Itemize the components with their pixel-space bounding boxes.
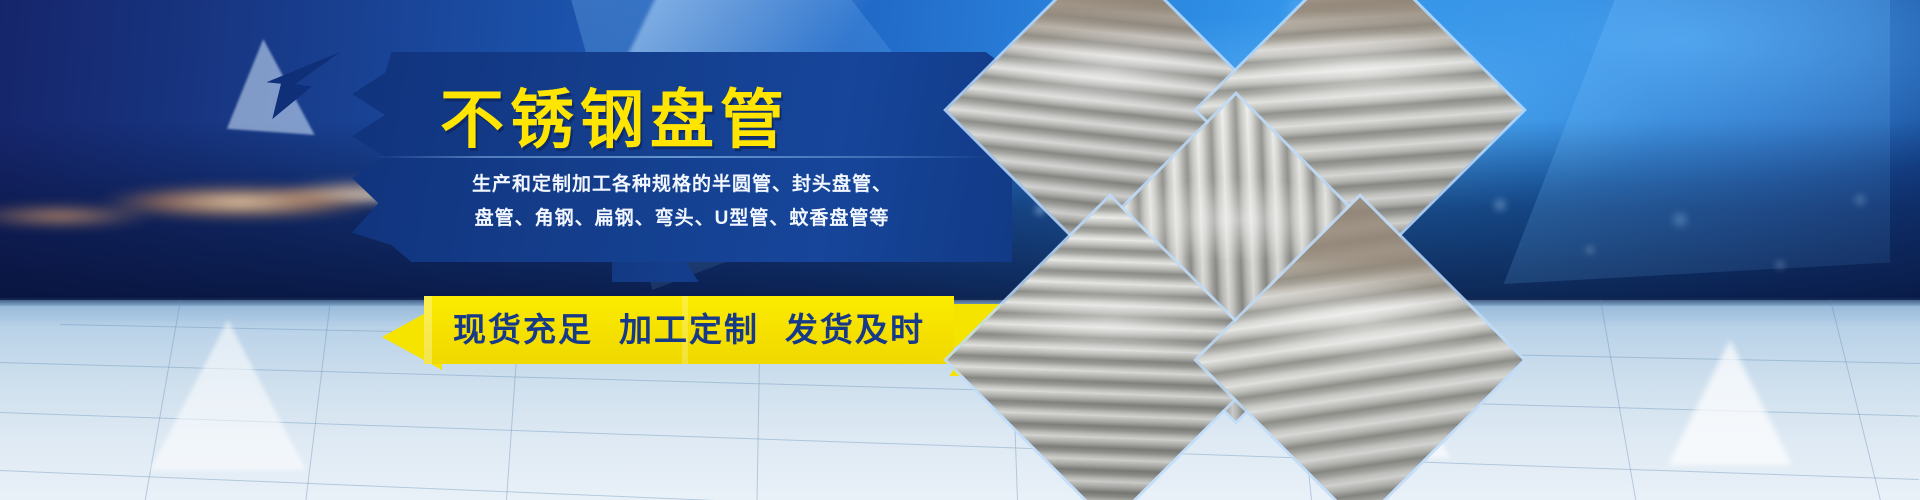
subtitle-line-2: 盘管、角钢、扁钢、弯头、U型管、蚊香盘管等 (372, 202, 992, 236)
product-hero-banner: 不锈钢盘管 生产和定制加工各种规格的半圆管、封头盘管、 盘管、角钢、扁钢、弯头、… (0, 0, 1920, 500)
ribbon-text-group: 现货充足加工定制发货及时 (424, 296, 954, 364)
product-photo-collage (1020, 0, 1520, 440)
ribbon-feature-3: 发货及时 (785, 311, 925, 348)
subtitle-line-1: 生产和定制加工各种规格的半圆管、封头盘管、 (372, 168, 992, 202)
features-ribbon: 现货充足加工定制发货及时 (382, 296, 1010, 378)
page-title: 不锈钢盘管 (440, 88, 1000, 152)
panel-divider (372, 156, 992, 158)
subtitle-block: 生产和定制加工各种规格的半圆管、封头盘管、 盘管、角钢、扁钢、弯头、U型管、蚊香… (372, 168, 992, 236)
ribbon-feature-1: 现货充足 (453, 311, 593, 348)
decor-triangle-white-left (150, 320, 306, 470)
decor-triangle-white-right (1668, 340, 1792, 465)
ribbon-feature-2: 加工定制 (619, 311, 759, 348)
